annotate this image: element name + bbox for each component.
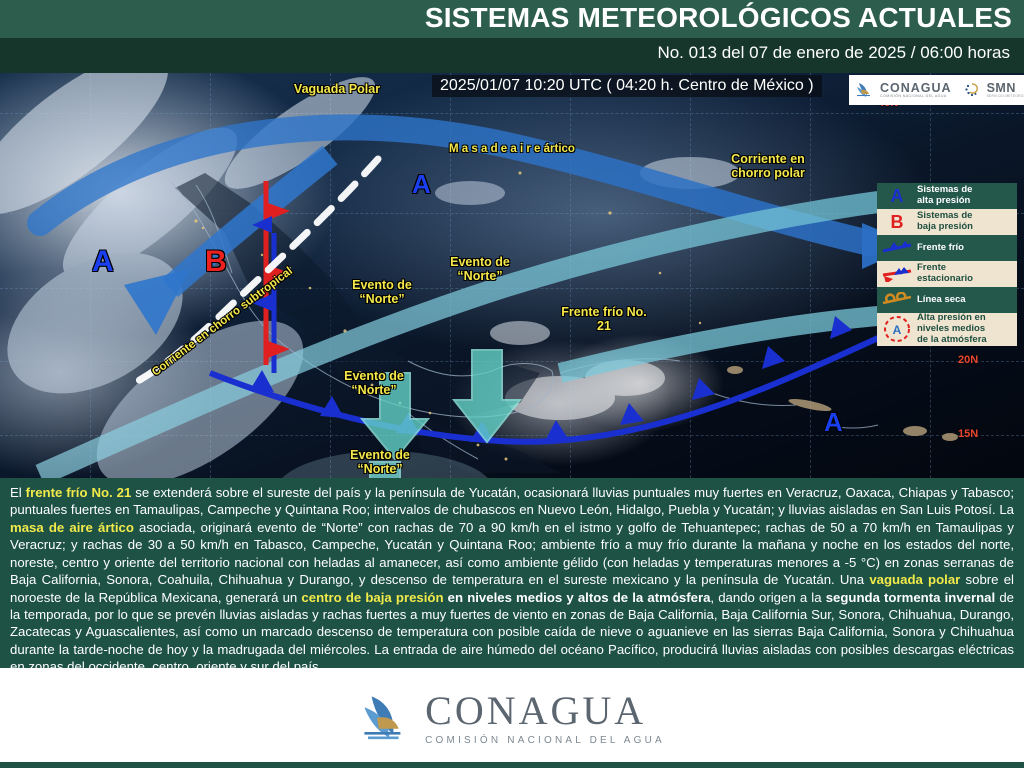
bulletin-number: No. 013 del 07 de enero de 2025 / 06:00 … [657,43,1010,63]
annotation-masa-aire-artico: M a s a d e a i r e ártico [432,143,592,156]
letter-a-icon: A [877,187,917,205]
footer-logo-sub: COMISIÓN NACIONAL DEL AGUA [425,735,665,746]
conagua-wave-icon [855,80,875,100]
header-subbar: No. 013 del 07 de enero de 2025 / 06:00 … [0,38,1024,73]
annotation-corriente-chorro-polar: Corriente en chorro polar [716,152,820,181]
high-pressure-marker-pacific: A [92,245,114,279]
page-title: SISTEMAS METEOROLÓGICOS ACTUALES [425,2,1012,34]
legend-item-frente-frio[interactable]: Frente frío [877,235,1017,261]
legend-symbol-a: A [891,187,904,205]
high-pressure-marker-caribbean: A [824,407,843,438]
satellite-map[interactable]: 40N 25N 20N 15N A B A A Vaguada Polar M … [0,73,1024,478]
legend-item-frente-estacionario[interactable]: Frente estacionario [877,261,1017,287]
smn-logo-sub: SERVICIO METEOROLÓGICO NACIONAL [987,94,1024,98]
conagua-logo-sub: COMISIÓN NACIONAL DEL AGUA [880,94,952,98]
legend-item-linea-seca[interactable]: Línea seca [877,287,1017,313]
footer-bottom-bar [0,762,1024,768]
legend-item-alta-niveles-medios[interactable]: A Alta presión en niveles medios de la a… [877,313,1017,346]
annotation-evento-norte-1: Evento de “Norte” [340,278,424,307]
stationary-front-icon [877,266,917,282]
conagua-logo-icon [359,691,413,745]
legend-symbol-b: B [891,213,904,231]
annotation-frente-frio-21: Frente frío No. 21 [556,305,652,334]
legend-item-baja-presion[interactable]: B Sistemas de baja presión [877,209,1017,235]
letter-b-icon: B [877,213,917,231]
annotation-evento-norte-4: Evento de “Norte” [338,448,422,477]
map-logo-bar: CONAGUA COMISIÓN NACIONAL DEL AGUA SMN S… [849,75,1024,105]
legend-label-alta-niveles-medios: Alta presión en niveles medios de la atm… [917,313,990,346]
dry-line-icon [877,292,917,308]
low-pressure-marker-baja: B [205,245,227,279]
smn-swirl-icon [962,80,982,100]
weather-bulletin-page: SISTEMAS METEOROLÓGICOS ACTUALES No. 013… [0,0,1024,768]
lat-label-15n: 15N [958,428,978,440]
legend-label-frente-frio: Frente frío [917,243,967,254]
footer: CONAGUA COMISIÓN NACIONAL DEL AGUA [0,668,1024,768]
conagua-logo-name: CONAGUA [880,82,952,95]
svg-text:A: A [893,323,902,337]
legend-item-alta-presion[interactable]: A Sistemas de alta presión [877,183,1017,209]
forecast-text: El frente frío No. 21 se extenderá sobre… [0,478,1024,668]
map-legend: A Sistemas de alta presión B Sistemas de… [877,183,1017,346]
lat-label-20n: 20N [958,354,978,366]
map-timestamp: 2025/01/07 10:20 UTC ( 04:20 h. Centro d… [432,75,822,97]
legend-label-frente-estacionario: Frente estacionario [917,263,976,285]
header-bar: SISTEMAS METEOROLÓGICOS ACTUALES [0,0,1024,38]
legend-label-baja-presion: Sistemas de baja presión [917,211,976,233]
high-pressure-marker-north: A [412,169,431,200]
annotation-evento-norte-3: Evento de “Norte” [332,369,416,398]
annotation-evento-norte-2: Evento de “Norte” [438,255,522,284]
annotation-vaguada-polar: Vaguada Polar [292,82,382,96]
mid-level-high-icon: A [877,314,917,344]
legend-label-alta-presion: Sistemas de alta presión [917,185,975,207]
footer-logo-name: CONAGUA [425,691,665,731]
legend-label-linea-seca: Línea seca [917,295,969,306]
cold-front-icon [877,240,917,256]
smn-logo-name: SMN [987,82,1024,95]
